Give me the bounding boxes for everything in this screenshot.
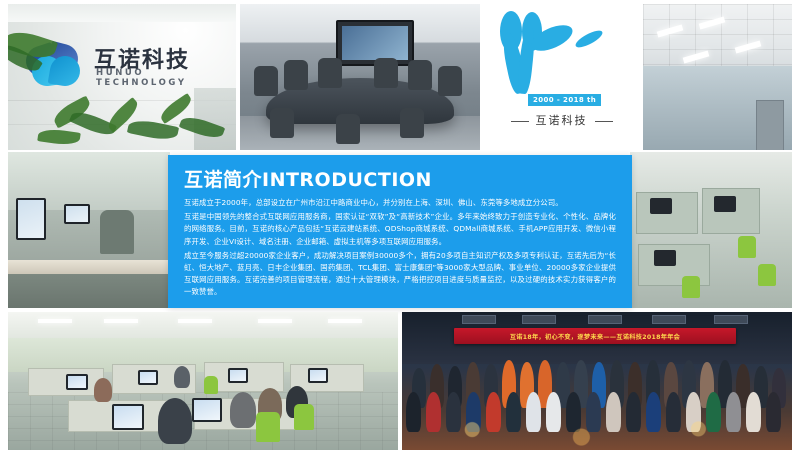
green-office-chair (256, 412, 280, 442)
company-profile-collage: 互诺科技 HUNUO TECHNOLOGY 2000 - 2 (0, 0, 800, 454)
green-office-chair (682, 276, 700, 298)
employee (230, 392, 256, 428)
monitor (138, 370, 158, 385)
green-office-chair (758, 264, 776, 286)
green-office-chair (294, 404, 314, 430)
employee (174, 366, 190, 388)
introduction-paragraph: 互诺是中国领先的整合式互联网应用服务商，国家认证“双软”及“高新技术”企业。多年… (184, 211, 616, 248)
anniversary-company-name: 互诺科技 (484, 112, 639, 128)
monitor (654, 250, 676, 266)
green-office-chair (738, 236, 756, 258)
bottom-left-ceiling (8, 312, 398, 338)
monitor (16, 198, 46, 240)
photo-open-office-right (630, 152, 792, 308)
monitor (112, 404, 144, 430)
photo-meeting-room (240, 4, 480, 150)
anniversary-logo-panel: 2000 - 2018 th 互诺科技 (484, 4, 639, 150)
photo-office-ceiling (643, 4, 792, 150)
anniversary-year-badge: 2000 - 2018 th (528, 94, 601, 106)
annual-meeting-banner: 互诺18年，初心不变，逐梦未来——互诺科技2018年年会 (454, 328, 736, 344)
photo-open-plan-office (8, 312, 398, 450)
left-desk (8, 260, 170, 274)
introduction-panel: 互诺简介INTRODUCTION 互诺成立于2000年，总部设立在广州市沿江中路… (168, 155, 632, 308)
annual-meeting-banner-text: 互诺18年，初心不变，逐梦未来——互诺科技2018年年会 (454, 328, 736, 344)
green-office-chair (204, 376, 218, 394)
employee-crowd (402, 346, 792, 416)
introduction-body: 互诺成立于2000年，总部设立在广州市沿江中路商业中心，并分别在上海、深圳、佛山… (184, 197, 616, 301)
photo-office-lobby: 互诺科技 HUNUO TECHNOLOGY (8, 4, 236, 150)
employee (158, 398, 192, 444)
monitor (650, 198, 672, 214)
banquet-carpet (402, 416, 792, 450)
employee (94, 378, 112, 402)
photo-workstation-left (8, 152, 170, 308)
left-floor (8, 274, 170, 308)
monitor (714, 196, 736, 212)
monitor (228, 368, 248, 383)
introduction-paragraph: 成立至今服务过超20000家企业客户，成功解决项目案例30000多个，拥有20多… (184, 250, 616, 299)
anniversary-company-label: 互诺科技 (536, 114, 588, 127)
office-chair (100, 210, 134, 254)
photo-annual-meeting-group: 互诺18年，初心不变，逐梦未来——互诺科技2018年年会 (402, 312, 792, 450)
lobby-ceiling (8, 4, 236, 22)
introduction-paragraph: 互诺成立于2000年，总部设立在广州市沿江中路商业中心，并分别在上海、深圳、佛山… (184, 197, 616, 209)
18th-anniversary-brush-logo-icon (500, 22, 612, 104)
server-cabinet (756, 100, 784, 150)
introduction-title: 互诺简介INTRODUCTION (184, 165, 432, 192)
monitor (308, 368, 328, 383)
monitor (66, 374, 88, 390)
monitor (192, 398, 222, 422)
monitor (64, 204, 90, 224)
brand-name-en: HUNUO TECHNOLOGY (96, 68, 236, 88)
